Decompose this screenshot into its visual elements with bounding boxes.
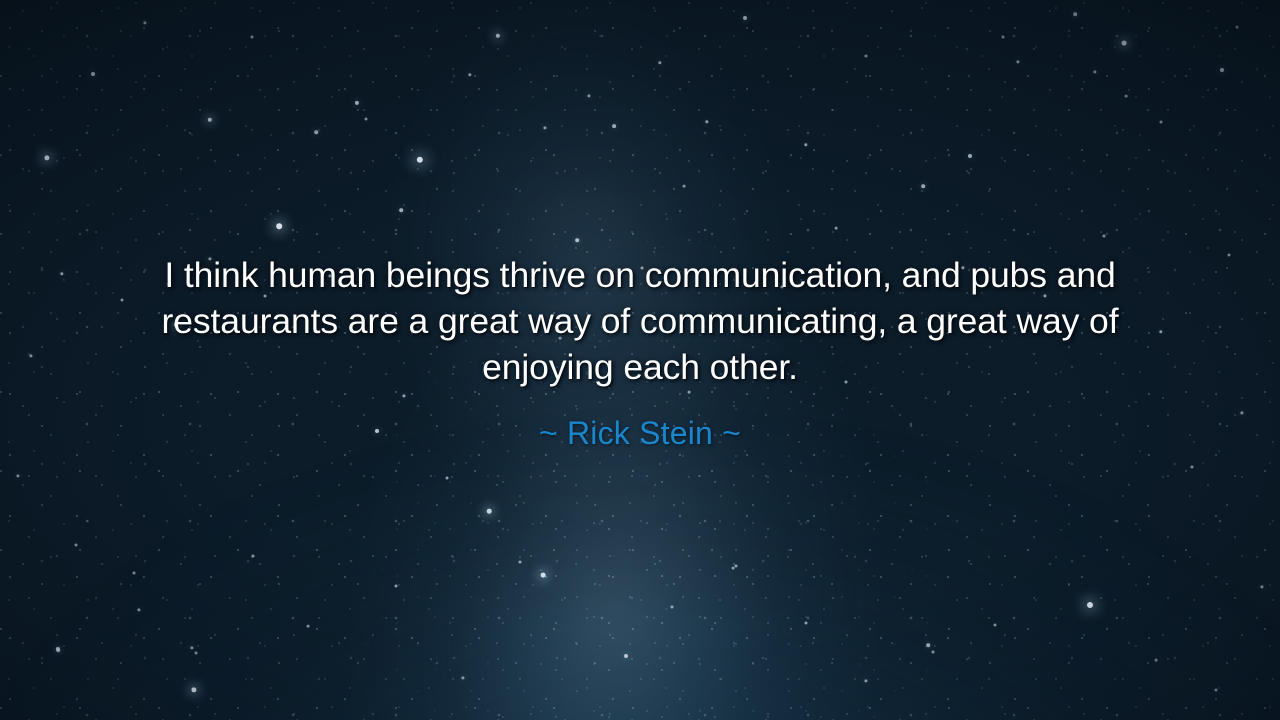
quote-line-3: enjoying each other. [85,344,1195,390]
quote-line-1: I think human beings thrive on communica… [85,252,1195,298]
quote-line-2: restaurants are a great way of communica… [85,298,1195,344]
quote-image-canvas: I think human beings thrive on communica… [0,0,1280,720]
quote-block: I think human beings thrive on communica… [85,252,1195,390]
quote-attribution: ~ Rick Stein ~ [539,414,741,452]
quote-content: I think human beings thrive on communica… [0,0,1280,720]
